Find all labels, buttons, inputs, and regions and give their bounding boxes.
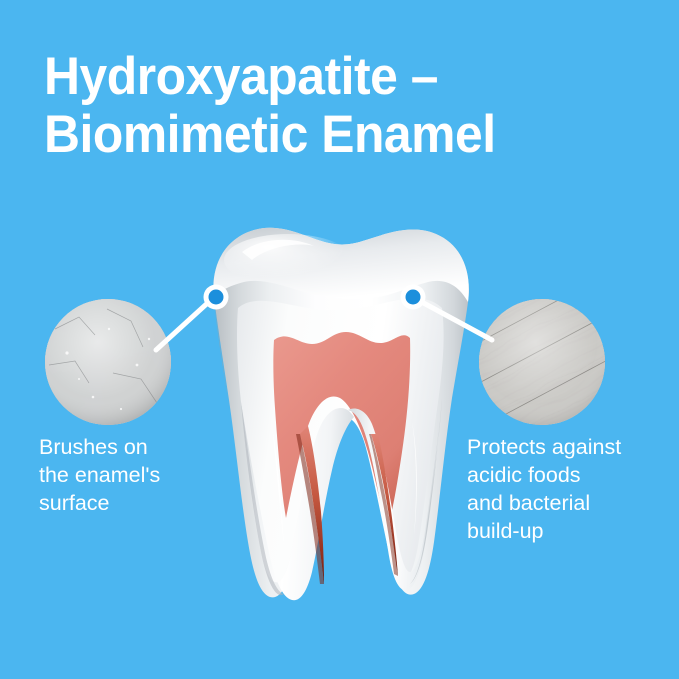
caption-right-line-4: build-up [467,517,679,545]
caption-right-line-2: acidic foods [467,461,679,489]
infographic-canvas: Hydroxyapatite – Biomimetic Enamel [0,0,679,679]
caption-left-line-3: surface [39,489,249,517]
caption-left-line-1: Brushes on [39,433,249,461]
tooth-body [213,228,468,601]
caption-right: Protects against acidic foods and bacter… [467,433,679,545]
title-line-2: Biomimetic Enamel [44,106,608,164]
tooth-illustration [196,212,484,602]
enamel-rod-micrograph [479,299,605,425]
title-line-1: Hydroxyapatite – [44,48,608,106]
caption-right-line-3: and bacterial [467,489,679,517]
caption-right-line-1: Protects against [467,433,679,461]
enamel-surface-micrograph [45,299,171,425]
page-title: Hydroxyapatite – Biomimetic Enamel [44,48,644,164]
caption-left: Brushes on the enamel's surface [39,433,249,517]
caption-left-line-2: the enamel's [39,461,249,489]
